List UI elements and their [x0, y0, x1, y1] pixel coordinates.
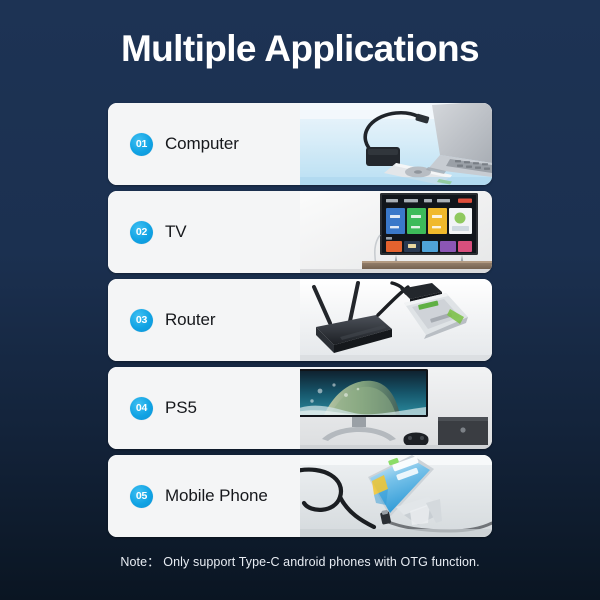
smartphone-on-stand-with-usb-c-cable-photo [300, 455, 492, 537]
index-badge: 04 [130, 397, 153, 420]
poster-root: Multiple Applications 01 Computer [0, 0, 600, 600]
smart-tv-on-wooden-console-photo [300, 191, 492, 273]
card-title: PS5 [165, 398, 197, 418]
card-label-area: 01 Computer [108, 103, 300, 185]
card-title: Mobile Phone [165, 486, 268, 506]
application-card[interactable]: 05 Mobile Phone [108, 455, 492, 537]
photo-artwork [300, 279, 492, 361]
photo-artwork [300, 191, 492, 273]
laptop-with-sata-adapter-and-hard-drive-photo [300, 103, 492, 185]
card-title: TV [165, 222, 187, 242]
application-card[interactable]: 03 Router [108, 279, 492, 361]
application-card[interactable]: 01 Computer [108, 103, 492, 185]
photo-artwork [300, 103, 492, 185]
card-label-area: 03 Router [108, 279, 300, 361]
page-title: Multiple Applications [0, 26, 600, 72]
application-card-list: 01 Computer [108, 103, 492, 543]
photo-artwork [300, 367, 492, 449]
card-label-area: 04 PS5 [108, 367, 300, 449]
index-badge: 01 [130, 133, 153, 156]
card-title: Router [165, 310, 215, 330]
card-label-area: 02 TV [108, 191, 300, 273]
application-card[interactable]: 04 PS5 [108, 367, 492, 449]
card-title: Computer [165, 134, 239, 154]
ultrawide-monitor-with-game-console-photo [300, 367, 492, 449]
footer-note: Note： Only support Type-C android phones… [0, 551, 600, 570]
application-card[interactable]: 02 TV [108, 191, 492, 273]
router-with-hard-drive-photo [300, 279, 492, 361]
index-badge: 02 [130, 221, 153, 244]
index-badge: 05 [130, 485, 153, 508]
index-badge: 03 [130, 309, 153, 332]
card-label-area: 05 Mobile Phone [108, 455, 300, 537]
photo-artwork [300, 455, 492, 537]
